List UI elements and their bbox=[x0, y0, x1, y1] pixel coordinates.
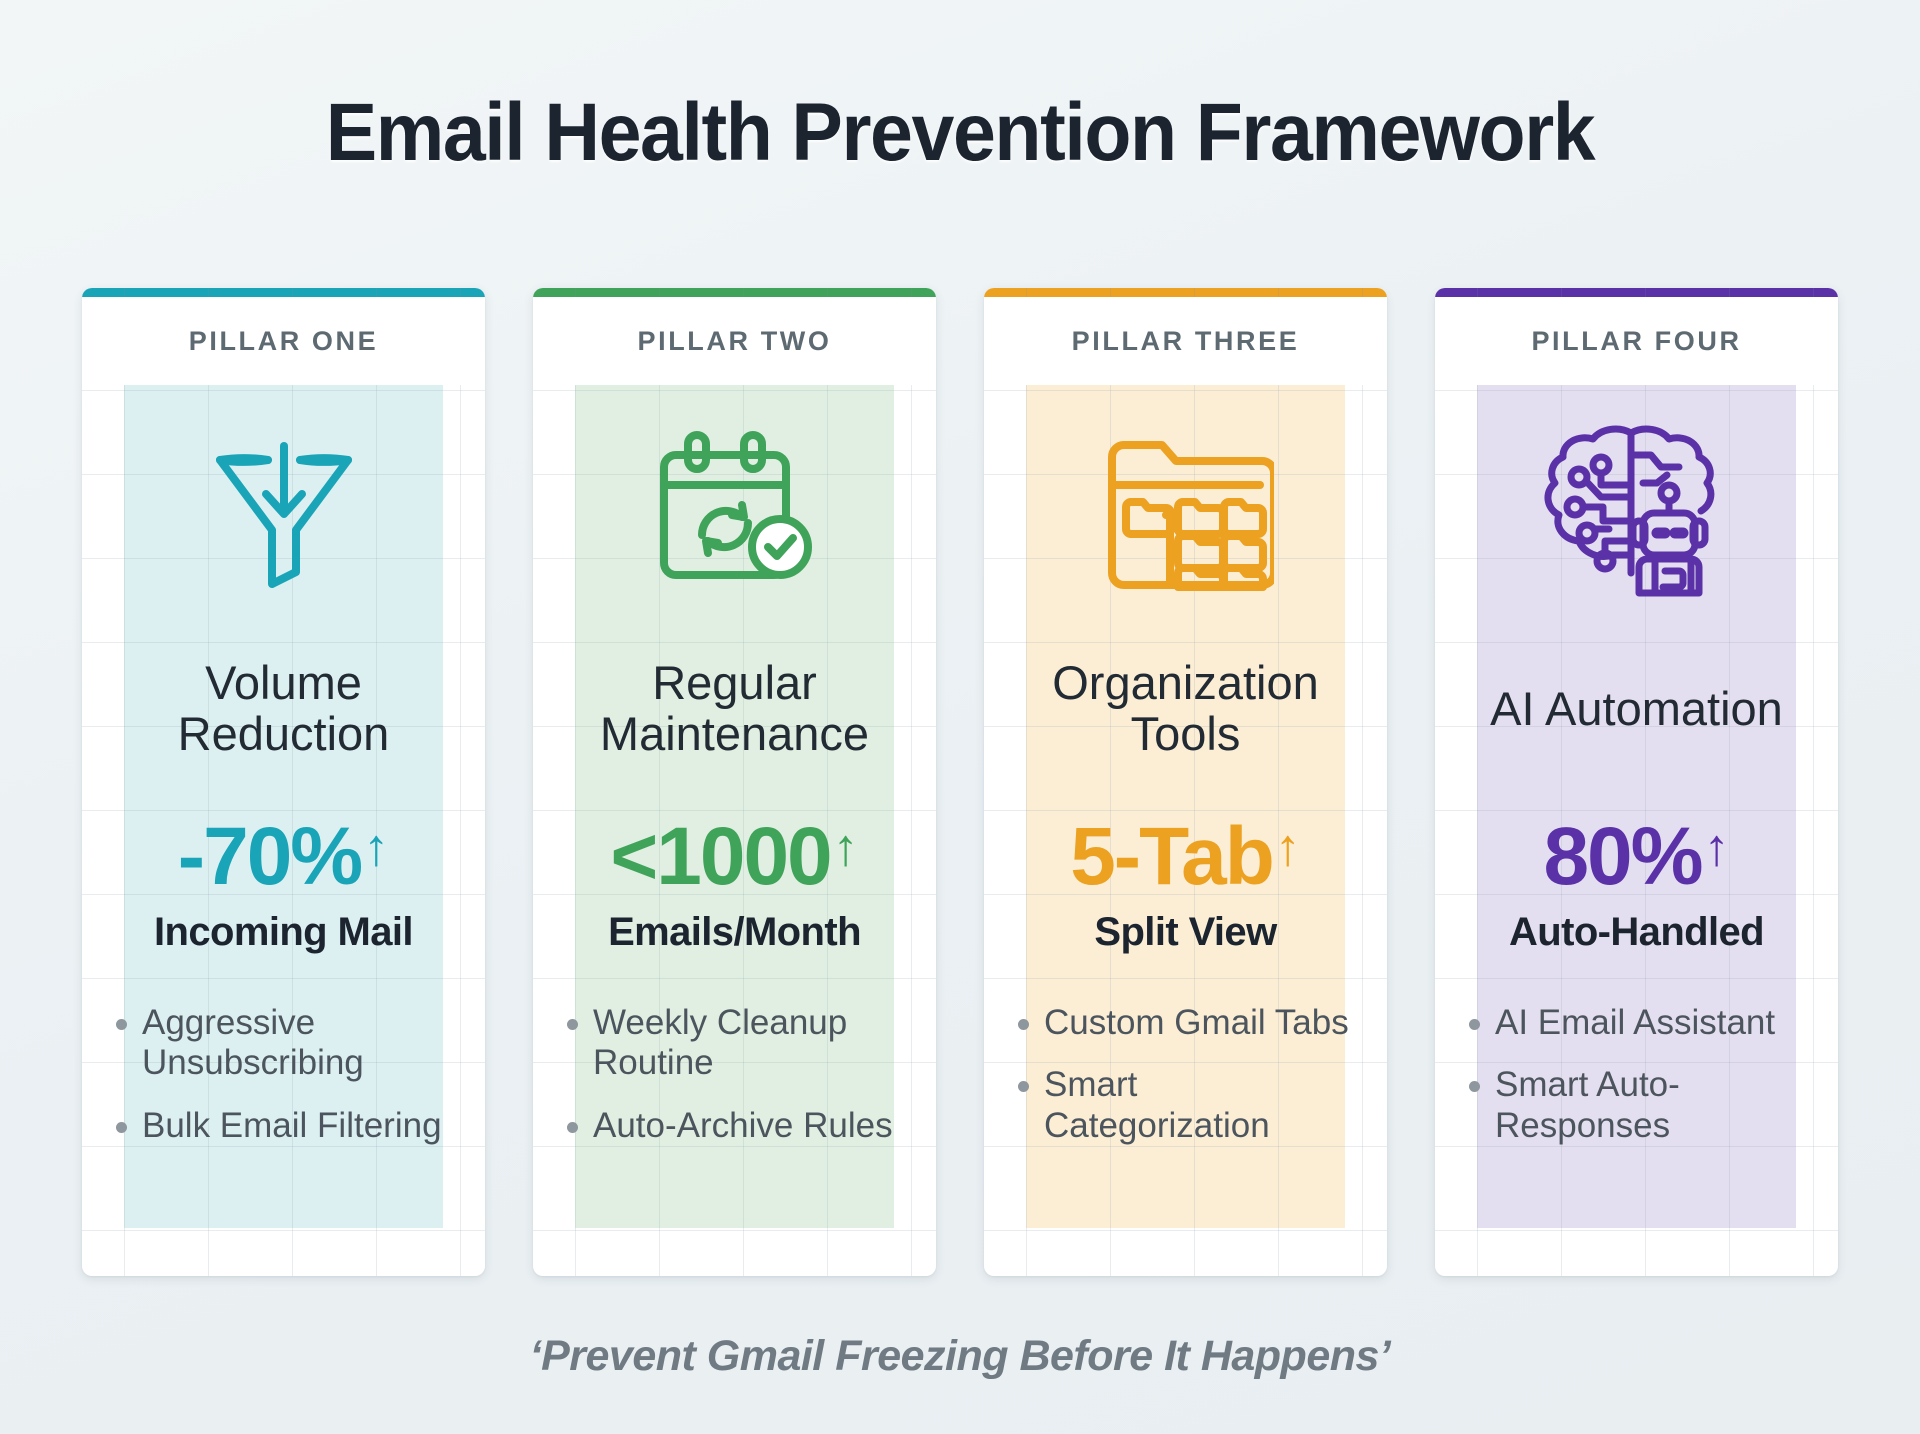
up-arrow-icon: ↑ bbox=[1704, 822, 1730, 874]
stat-value-wrapper: 80%↑ bbox=[1543, 816, 1729, 898]
card-title: Volume Reduction bbox=[82, 633, 485, 785]
pillar-card-grid: PILLAR ONE Volume Reduction -70%↑ Incomi… bbox=[82, 288, 1838, 1276]
up-arrow-icon: ↑ bbox=[833, 822, 859, 874]
bullet-list: Weekly Cleanup Routine Auto-Archive Rule… bbox=[533, 985, 936, 1276]
list-item: Bulk Email Filtering bbox=[116, 1106, 455, 1146]
card-title: Organization Tools bbox=[984, 633, 1387, 785]
accent-bar bbox=[1435, 288, 1838, 297]
stat-block: 80%↑ Auto-Handled bbox=[1435, 785, 1838, 985]
bullet-dot-icon bbox=[567, 1019, 578, 1030]
stat-value: -70% bbox=[178, 816, 361, 898]
bullet-dot-icon bbox=[1469, 1081, 1480, 1092]
bullet-dot-icon bbox=[1018, 1081, 1029, 1092]
stat-label: Auto-Handled bbox=[1509, 910, 1764, 955]
list-item-label: Smart Categorization bbox=[1044, 1065, 1357, 1146]
bullet-list: Aggressive Unsubscribing Bulk Email Filt… bbox=[82, 985, 485, 1276]
list-item: Aggressive Unsubscribing bbox=[116, 1003, 455, 1084]
list-item: Smart Categorization bbox=[1018, 1065, 1357, 1146]
stat-value-wrapper: -70%↑ bbox=[178, 816, 389, 898]
list-item: Weekly Cleanup Routine bbox=[567, 1003, 906, 1084]
page-title: Email Health Prevention Framework bbox=[58, 86, 1863, 180]
stat-label: Emails/Month bbox=[608, 910, 861, 955]
stat-value: <1000 bbox=[610, 816, 830, 898]
list-item: Smart Auto-Responses bbox=[1469, 1065, 1808, 1146]
up-arrow-icon: ↑ bbox=[1275, 822, 1301, 874]
list-item-label: Weekly Cleanup Routine bbox=[593, 1003, 906, 1084]
bullet-dot-icon bbox=[116, 1122, 127, 1133]
stat-value-wrapper: 5-Tab↑ bbox=[1070, 816, 1301, 898]
stat-value: 80% bbox=[1543, 816, 1701, 898]
pillar-card-three[interactable]: PILLAR THREE Organization Tools 5-Tab↑ S bbox=[984, 288, 1387, 1276]
list-item-label: Bulk Email Filtering bbox=[142, 1106, 442, 1146]
bullet-dot-icon bbox=[1469, 1019, 1480, 1030]
up-arrow-icon: ↑ bbox=[363, 822, 389, 874]
pillar-label: PILLAR ONE bbox=[82, 297, 485, 385]
list-item: Auto-Archive Rules bbox=[567, 1106, 906, 1146]
footer-tagline: ‘Prevent Gmail Freezing Before It Happen… bbox=[0, 1332, 1920, 1381]
list-item: AI Email Assistant bbox=[1469, 1003, 1808, 1043]
accent-bar bbox=[82, 288, 485, 297]
bullet-dot-icon bbox=[1018, 1019, 1029, 1030]
card-title: Regular Maintenance bbox=[533, 633, 936, 785]
stat-label: Split View bbox=[1094, 910, 1276, 955]
bullet-list: AI Email Assistant Smart Auto-Responses bbox=[1435, 985, 1838, 1276]
stat-value: 5-Tab bbox=[1070, 816, 1273, 898]
pillar-card-one[interactable]: PILLAR ONE Volume Reduction -70%↑ Incomi… bbox=[82, 288, 485, 1276]
accent-bar bbox=[533, 288, 936, 297]
stat-block: <1000↑ Emails/Month bbox=[533, 785, 936, 985]
stat-block: 5-Tab↑ Split View bbox=[984, 785, 1387, 985]
bullet-list: Custom Gmail Tabs Smart Categorization bbox=[984, 985, 1387, 1276]
list-item-label: Aggressive Unsubscribing bbox=[142, 1003, 455, 1084]
pillar-label: PILLAR THREE bbox=[984, 297, 1387, 385]
list-item-label: Custom Gmail Tabs bbox=[1044, 1003, 1349, 1043]
list-item-label: Smart Auto-Responses bbox=[1495, 1065, 1808, 1146]
pillar-card-two[interactable]: PILLAR TWO Regular Maintenance <1000↑ Em… bbox=[533, 288, 936, 1276]
list-item: Custom Gmail Tabs bbox=[1018, 1003, 1357, 1043]
accent-bar bbox=[984, 288, 1387, 297]
pillar-card-four[interactable]: PILLAR FOUR bbox=[1435, 288, 1838, 1276]
folder-tree-icon bbox=[984, 385, 1387, 633]
stat-value-wrapper: <1000↑ bbox=[610, 816, 858, 898]
card-title: AI Automation bbox=[1435, 633, 1838, 785]
ai-brain-robot-icon bbox=[1435, 385, 1838, 633]
list-item-label: Auto-Archive Rules bbox=[593, 1106, 893, 1146]
stat-label: Incoming Mail bbox=[154, 910, 413, 955]
bullet-dot-icon bbox=[567, 1122, 578, 1133]
pillar-label: PILLAR FOUR bbox=[1435, 297, 1838, 385]
bullet-dot-icon bbox=[116, 1019, 127, 1030]
stat-block: -70%↑ Incoming Mail bbox=[82, 785, 485, 985]
funnel-icon bbox=[82, 385, 485, 633]
calendar-refresh-check-icon bbox=[533, 385, 936, 633]
list-item-label: AI Email Assistant bbox=[1495, 1003, 1775, 1043]
pillar-label: PILLAR TWO bbox=[533, 297, 936, 385]
